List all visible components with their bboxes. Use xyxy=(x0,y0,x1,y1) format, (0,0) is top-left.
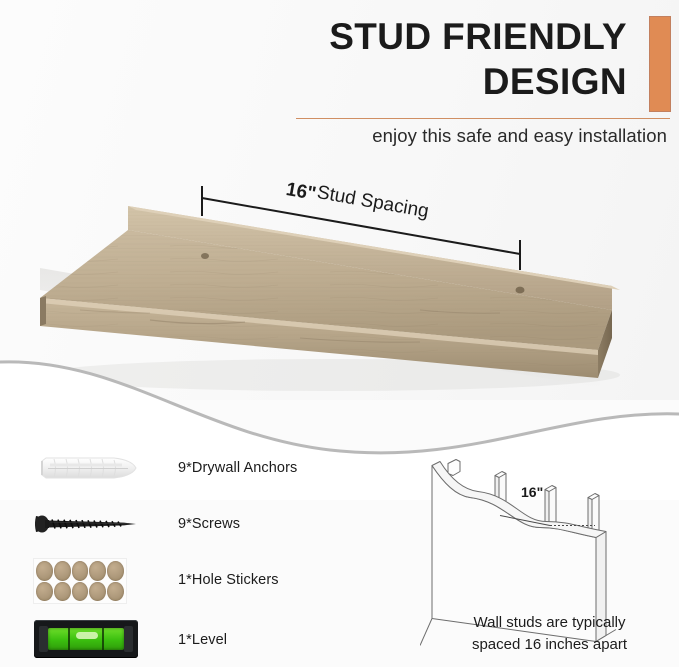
accessory-row-level: 1*Level xyxy=(30,616,370,664)
header-divider-rule xyxy=(296,118,670,119)
accessory-label: 1*Level xyxy=(178,632,227,648)
drywall-anchor-icon xyxy=(30,445,148,491)
headline-line-2: DESIGN xyxy=(197,59,627,104)
accessory-row-hole-stickers: 1*Hole Stickers xyxy=(30,556,370,604)
product-infographic: STUD FRIENDLY DESIGN enjoy this safe and… xyxy=(0,0,679,667)
subtitle: enjoy this safe and easy installation xyxy=(207,125,667,147)
screw-icon xyxy=(30,501,148,547)
accessory-label: 9*Screws xyxy=(178,516,240,532)
stud-dimension-label: 16" xyxy=(521,484,543,500)
level-icon xyxy=(30,617,148,663)
accessory-row-screws: 9*Screws xyxy=(30,500,370,548)
accessories-list: 9*Drywall Anchors xyxy=(0,440,400,667)
caption-line-2: spaced 16 inches apart xyxy=(420,634,679,656)
accessory-row-drywall-anchors: 9*Drywall Anchors xyxy=(30,444,370,492)
accessory-label: 1*Hole Stickers xyxy=(178,572,279,588)
stud-diagram-caption: Wall studs are typically spaced 16 inche… xyxy=(420,612,679,656)
headline-block: STUD FRIENDLY DESIGN xyxy=(197,14,627,104)
hole-stickers-icon xyxy=(30,557,148,603)
caption-line-1: Wall studs are typically xyxy=(420,612,679,634)
accessory-label: 9*Drywall Anchors xyxy=(178,460,297,476)
orange-accent-bar xyxy=(649,16,671,112)
headline-line-1: STUD FRIENDLY xyxy=(197,14,627,59)
